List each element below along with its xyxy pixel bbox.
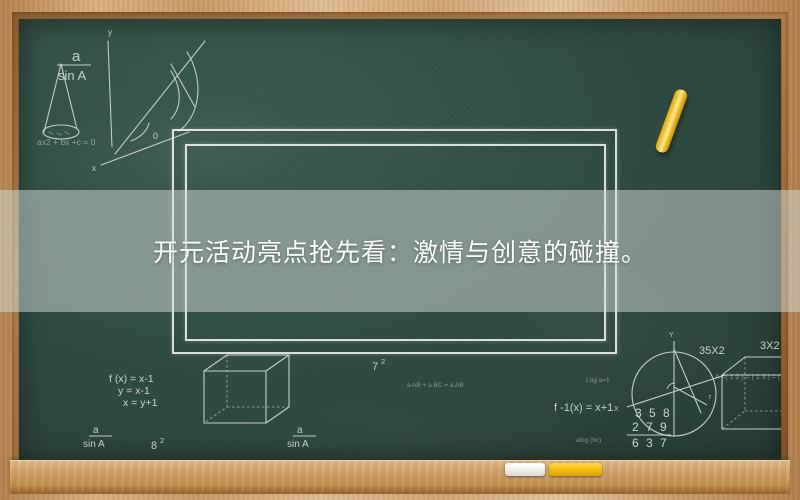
sina-den-3: sin A [287,439,309,450]
eight-exp: 2 [160,436,164,445]
yellow-chalk-on-ledge [549,463,602,476]
chalkboard-banner-image: y x 0 a sin A ax2 + bx +c = 0 f (x) = x-… [0,0,800,500]
cross-ray [171,64,195,107]
angle-arc [131,123,149,141]
add-row-1: 3 5 8 [635,406,672,420]
expr-35x2: 35X2 [699,345,725,357]
banner-caption: 开元活动亮点抢先看：激情与创意的碰撞。 [153,233,647,269]
cube-left-hidden [204,355,289,423]
circle-label-r: r [709,394,712,401]
eq-x: x = y+1 [123,397,158,409]
cube-left-top [204,355,289,371]
chalk-a-numerator: a [72,48,81,65]
matrix-row: A =( 1 2 ) = ( 1 3 ) = ( 1 2 ) [715,374,781,381]
eq-fx: f (x) = x-1 [109,373,154,385]
label-y: y [108,28,112,37]
circle-label-y: Y [669,332,674,339]
cube-right-front [722,375,781,429]
sina-den-2: sin A [83,439,105,450]
white-eraser [505,463,545,476]
y-axis-line [108,41,112,147]
a-num-2: a [93,425,99,436]
chalk-sinA-denominator: sin A [58,68,87,83]
seven-base: 7 [372,361,378,373]
arc-inner [171,71,179,119]
expr-3x2: 3X2 [760,340,780,352]
chalk-ledge [10,460,790,494]
log-bc: alog (bc) [576,437,601,444]
add-row-2: 2 7 9 [632,420,669,434]
add-row-3: 6 3 7 [632,436,669,450]
seven-exp: 2 [381,357,385,366]
eq-inverse-f: f -1(x) = x+1 [554,402,613,414]
circle-x-axis [627,375,725,407]
caption-band: 开元活动亮点抢先看：激情与创意的碰撞。 [0,190,800,312]
quadratic-equation: ax2 + bx +c = 0 [37,137,96,147]
ledge-lip [10,487,790,494]
vector-sum: a AB + a BC = a AB [407,382,464,389]
a-num-3: a [297,425,303,436]
log-a-1: Log a=1 [586,377,610,384]
eight-base: 8 [151,440,157,452]
label-theta: 0 [153,131,158,141]
circle-radius-2 [674,387,707,405]
cube-right-top [722,357,781,375]
circle-label-x: X [614,406,619,413]
cube-left-front [204,371,266,423]
cube-left-side [266,355,289,423]
eq-y: y = x-1 [118,385,150,397]
label-x: x [92,164,96,173]
arc-outer [179,52,198,131]
